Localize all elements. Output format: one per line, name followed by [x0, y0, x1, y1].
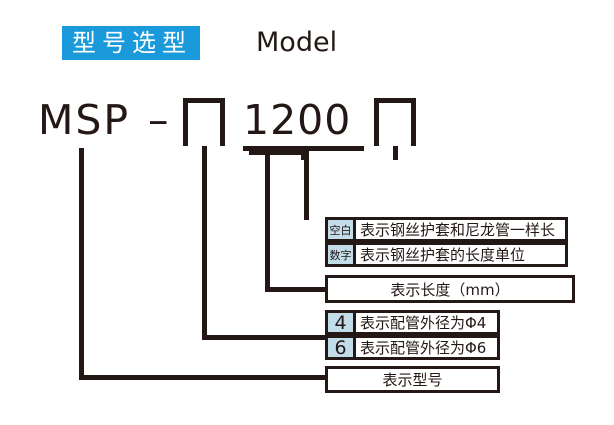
leader-length-vertical [265, 155, 270, 292]
suffix-row-number: 数字 表示钢丝护套的长度单位 [325, 242, 568, 267]
diameter-key-6: 6 [328, 338, 356, 357]
suffix-key-number: 数字 [328, 245, 356, 264]
length-description-box: 表示长度（mm） [325, 275, 575, 303]
suffix-desc-number: 表示钢丝护套的长度单位 [356, 245, 565, 264]
leader-diameter-vertical [202, 146, 207, 340]
model-description-box: 表示型号 [325, 366, 500, 393]
suffix-row-blank: 空白 表示钢丝护套和尼龙管一样长 [325, 217, 568, 242]
model-length-value: 1200 [243, 96, 351, 144]
model-prefix-msp: MSP [38, 96, 130, 144]
diameter-key-4: 4 [328, 313, 356, 332]
diameter-desc-4: 表示配管外径为Φ4 [356, 313, 497, 332]
leader-diameter-horizontal [202, 335, 329, 340]
model-slot-diameter [183, 98, 225, 146]
section-title-english: Model [256, 25, 337, 61]
model-dash: – [148, 96, 169, 144]
leader-length-top [265, 150, 306, 155]
model-slot-suffix [374, 98, 416, 146]
leader-suffix-vertical [304, 155, 309, 220]
suffix-key-blank: 空白 [328, 220, 356, 239]
diameter-desc-6: 表示配管外径为Φ6 [356, 338, 497, 357]
leader-model-vertical [79, 148, 84, 380]
diameter-row-6: 6 表示配管外径为Φ6 [325, 335, 500, 360]
suffix-desc-blank: 表示钢丝护套和尼龙管一样长 [356, 220, 565, 239]
leader-length-horizontal [265, 287, 327, 292]
leader-suffix-stub [393, 146, 398, 160]
model-selection-diagram: 型号选型 Model MSP – 1200 空白 表示钢丝护套和尼龙管一样长 数… [0, 0, 614, 425]
section-title-badge: 型号选型 [62, 26, 200, 60]
diameter-row-4: 4 表示配管外径为Φ4 [325, 310, 500, 335]
leader-model-horizontal [79, 375, 329, 380]
